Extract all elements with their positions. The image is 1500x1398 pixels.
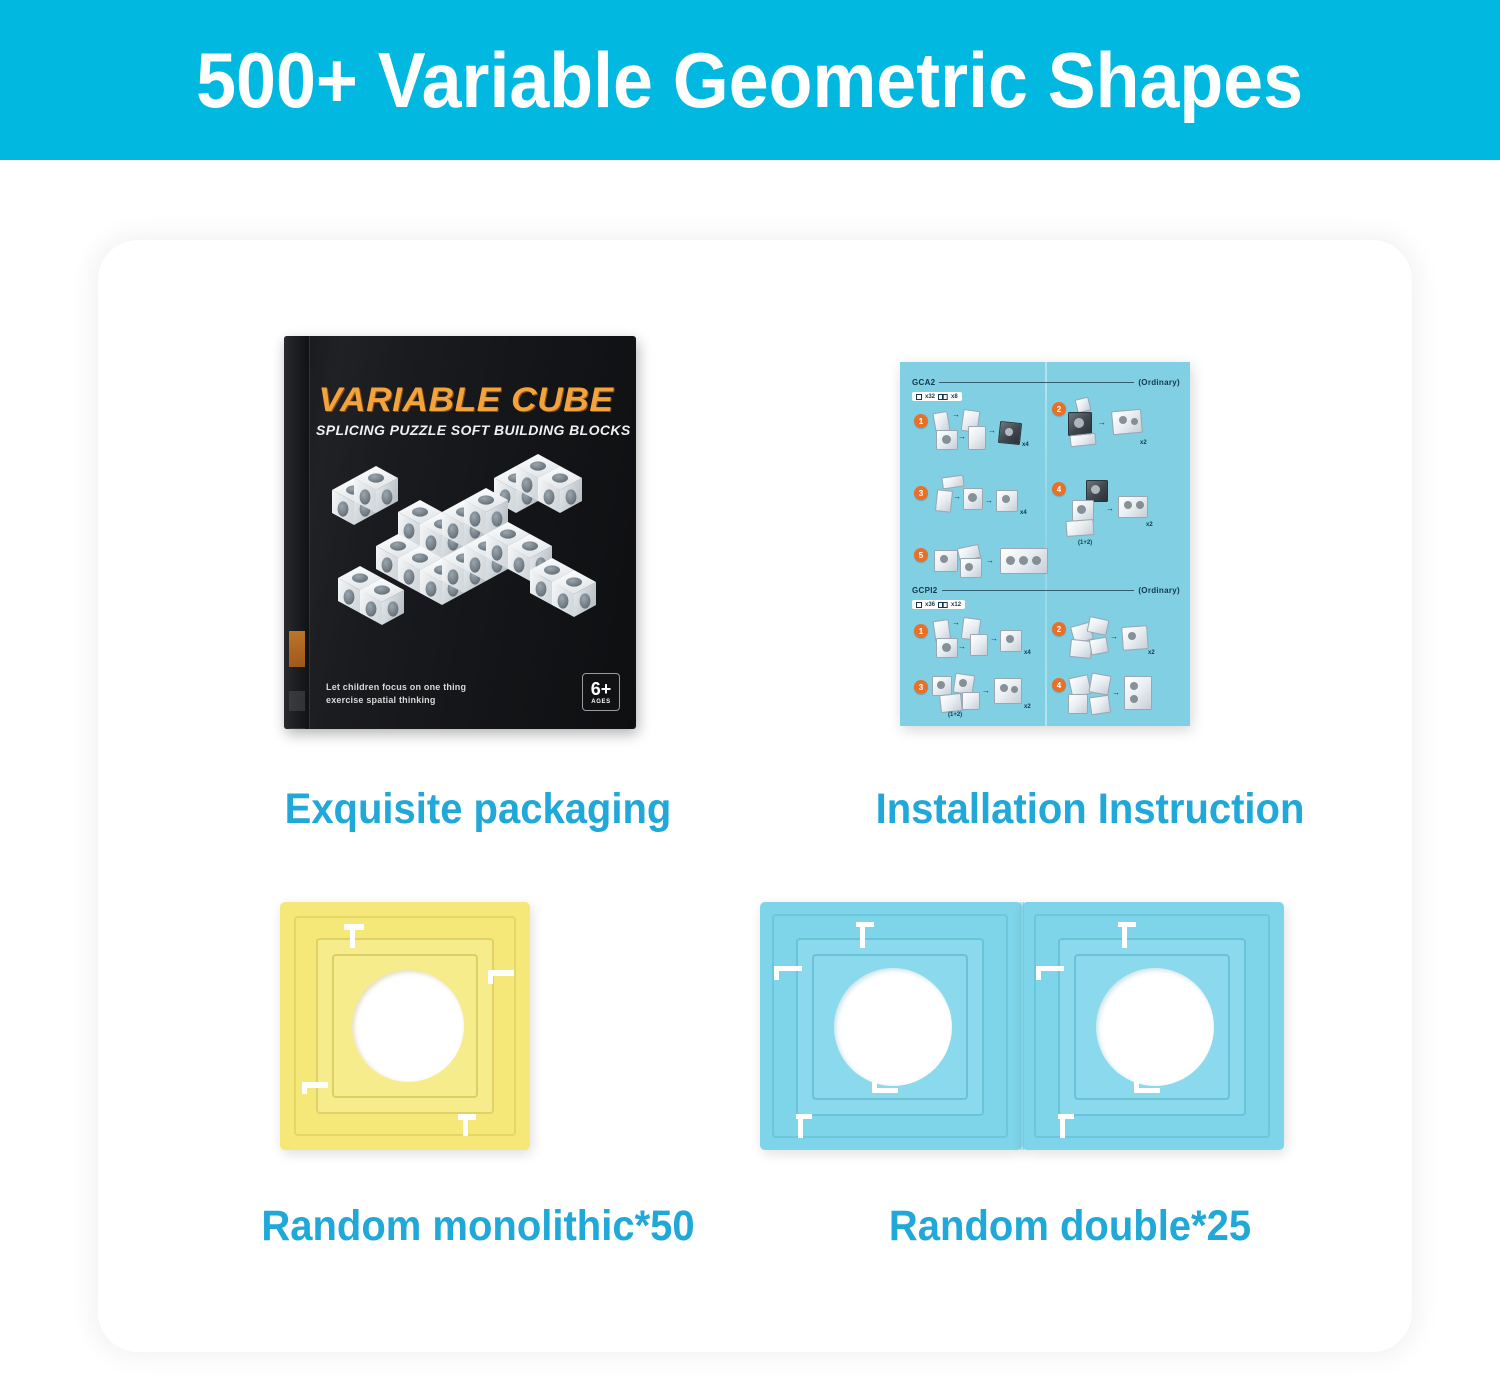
- step-note: (1+2): [948, 712, 962, 718]
- sheet-section-header: GCA2 (Ordinary): [912, 378, 1180, 387]
- instruction-sheet-photo: GCA2 (Ordinary) x32 x8 1 →: [900, 362, 1190, 726]
- step-arrow-icon: →: [982, 686, 990, 695]
- step-part-hole: [968, 493, 977, 502]
- age-badge-number: 6+: [591, 680, 612, 698]
- sheet-section-code: GCPI2: [912, 586, 938, 595]
- step-part-hole: [1136, 501, 1144, 509]
- step-quantity: x4: [1024, 650, 1031, 656]
- step-part: [962, 692, 980, 710]
- box-tagline: Let children focus on one thing exercise…: [326, 681, 466, 707]
- legend-double-square-icon: [938, 394, 948, 400]
- step-part: [970, 634, 988, 656]
- monolithic-tile-photo: [280, 902, 540, 1170]
- tile-center-hole: [834, 968, 952, 1086]
- step-number: 4: [1052, 482, 1066, 496]
- box-spine: [284, 336, 310, 729]
- tile-notch-top: [350, 924, 355, 948]
- caption-random-monolithic: Random monolithic*50: [143, 1205, 813, 1248]
- step-part-hole: [1128, 632, 1136, 640]
- cube-assembly-artwork: [308, 454, 616, 674]
- step-result-part: [994, 678, 1022, 704]
- age-badge: 6+ AGES: [582, 673, 620, 711]
- step-part-hole: [1130, 682, 1138, 690]
- sheet-section-kind: (Ordinary): [1138, 586, 1180, 595]
- step-quantity: x2: [1148, 650, 1155, 656]
- legend-count-a: x32: [925, 394, 935, 400]
- step-part-hole: [1077, 505, 1086, 514]
- step-note: (1+2): [1078, 540, 1092, 546]
- step-arrow-icon: →: [985, 496, 993, 505]
- step-result-part: [1118, 496, 1148, 518]
- caption-installation-instruction: Installation Instruction: [783, 788, 1397, 831]
- age-badge-label: AGES: [591, 699, 610, 705]
- feature-cell-double: Random double*25: [720, 880, 1420, 1300]
- step-part-hole: [1119, 416, 1127, 424]
- legend-double-square-icon: [938, 602, 948, 608]
- tile-notch-top: [856, 922, 874, 927]
- feature-cell-packaging: VARIABLE CUBE SPLICING PUZZLE SOFT BUILD…: [118, 300, 838, 880]
- step-arrow-icon: →: [1098, 418, 1106, 427]
- tile-notch-right: [1134, 1082, 1139, 1093]
- step-quantity: x4: [1022, 442, 1029, 448]
- step-part-hole: [1131, 418, 1138, 425]
- caption-exquisite-packaging: Exquisite packaging: [143, 788, 813, 831]
- step-arrow-icon: →: [958, 432, 966, 441]
- step-part-hole: [1000, 684, 1008, 692]
- step-part-hole: [942, 643, 951, 652]
- caption-random-double: Random double*25: [745, 1205, 1396, 1248]
- tile-notch-bottom: [798, 1114, 803, 1138]
- step-part: [1068, 694, 1088, 714]
- page-title: 500+ Variable Geometric Shapes: [197, 41, 1304, 119]
- step-part-hole: [1130, 695, 1138, 703]
- step-part-hole: [965, 563, 973, 571]
- step-part: [941, 475, 964, 490]
- step-result-part: [1124, 676, 1152, 710]
- step-part-hole: [1002, 495, 1010, 503]
- tile-notch-top: [1118, 922, 1136, 927]
- tile-notch-bottom: [463, 1114, 468, 1136]
- step-number: 2: [1052, 402, 1066, 416]
- step-part-hole: [959, 679, 967, 687]
- step-part-hole: [1005, 428, 1013, 436]
- feature-cell-instruction: GCA2 (Ordinary) x32 x8 1 →: [760, 300, 1420, 880]
- box-tagline-line-1: Let children focus on one thing: [326, 681, 466, 694]
- step-arrow-icon: →: [958, 642, 966, 651]
- step-part-hole: [1032, 556, 1041, 565]
- step-arrow-icon: →: [988, 426, 996, 435]
- sheet-section-rule: [939, 382, 1134, 383]
- step-arrow-icon: →: [1106, 504, 1114, 513]
- tile-notch-top: [1122, 922, 1127, 948]
- product-box: VARIABLE CUBE SPLICING PUZZLE SOFT BUILD…: [284, 336, 636, 729]
- step-part-hole: [1006, 556, 1015, 565]
- step-part: [1088, 672, 1111, 695]
- sheet-parts-legend: x36 x12: [912, 600, 965, 609]
- product-box-photo: VARIABLE CUBE SPLICING PUZZLE SOFT BUILD…: [284, 336, 636, 736]
- step-number: 1: [914, 624, 928, 638]
- step-part-hole: [937, 681, 945, 689]
- tile-notch-left: [1036, 966, 1041, 980]
- spine-chip: [289, 691, 305, 711]
- box-tagline-line-2: exercise spatial thinking: [326, 694, 466, 707]
- sheet-section-kind: (Ordinary): [1138, 378, 1180, 387]
- instruction-sheet: GCA2 (Ordinary) x32 x8 1 →: [900, 362, 1190, 726]
- tile-notch-left: [774, 966, 779, 980]
- legend-square-icon: [916, 602, 922, 608]
- step-part-hole: [1124, 501, 1132, 509]
- header-banner: 500+ Variable Geometric Shapes: [0, 0, 1500, 160]
- tile-notch-bottom: [1060, 1114, 1065, 1138]
- step-part: [939, 693, 963, 713]
- step-part: [1089, 637, 1110, 656]
- product-feature-page: 500+ Variable Geometric Shapes VARIABLE …: [0, 0, 1500, 1398]
- step-part-hole: [940, 555, 948, 563]
- step-part-hole: [1011, 686, 1018, 693]
- step-part: [968, 426, 986, 450]
- step-part-hole: [1074, 418, 1084, 428]
- step-arrow-icon: →: [990, 634, 998, 643]
- box-subtitle: SPLICING PUZZLE SOFT BUILDING BLOCKS: [316, 422, 616, 438]
- legend-count-b: x12: [951, 602, 961, 608]
- step-number: 3: [914, 680, 928, 694]
- step-quantity: x4: [1020, 510, 1027, 516]
- step-part-hole: [1091, 485, 1100, 494]
- box-title: VARIABLE CUBE: [310, 381, 622, 420]
- tile-notch-left: [302, 1082, 307, 1094]
- sheet-fold-crease: [1045, 362, 1047, 726]
- double-tile-photo: [760, 902, 1284, 1170]
- sheet-section-header: GCPI2 (Ordinary): [912, 586, 1180, 595]
- tile-notch-right: [872, 1082, 877, 1093]
- step-part: [1075, 397, 1092, 414]
- step-number: 3: [914, 486, 928, 500]
- step-part: [1089, 695, 1111, 716]
- step-part: [1065, 519, 1094, 537]
- step-part-hole: [942, 435, 951, 444]
- step-part: [1069, 433, 1096, 448]
- step-arrow-icon: →: [1112, 688, 1120, 697]
- step-quantity: x2: [1140, 440, 1147, 446]
- step-number: 4: [1052, 678, 1066, 692]
- legend-count-a: x36: [925, 602, 935, 608]
- step-number: 1: [914, 414, 928, 428]
- step-arrow-icon: →: [952, 618, 960, 627]
- tile-center-hole: [352, 970, 464, 1082]
- spine-chip: [289, 728, 305, 729]
- tile-seam: [1020, 902, 1024, 1150]
- step-part-hole: [1006, 635, 1014, 643]
- tile-notch-right: [488, 970, 493, 984]
- step-part-hole: [1019, 556, 1028, 565]
- step-number: 2: [1052, 622, 1066, 636]
- legend-square-icon: [916, 394, 922, 400]
- step-number: 5: [914, 548, 928, 562]
- step-arrow-icon: →: [953, 492, 961, 501]
- legend-count-b: x8: [951, 394, 958, 400]
- step-quantity: x2: [1024, 704, 1031, 710]
- step-result-part: [1111, 409, 1143, 436]
- step-arrow-icon: →: [1110, 632, 1118, 641]
- tile-notch-top: [860, 922, 865, 948]
- step-arrow-icon: →: [986, 556, 994, 565]
- step-part: [935, 489, 953, 513]
- sheet-section-rule: [942, 590, 1135, 591]
- sheet-section-code: GCA2: [912, 378, 935, 387]
- step-arrow-icon: →: [952, 410, 960, 419]
- spine-orange-stripe: [289, 631, 305, 667]
- sheet-parts-legend: x32 x8: [912, 392, 962, 401]
- tile-center-hole: [1096, 968, 1214, 1086]
- step-quantity: x2: [1146, 522, 1153, 528]
